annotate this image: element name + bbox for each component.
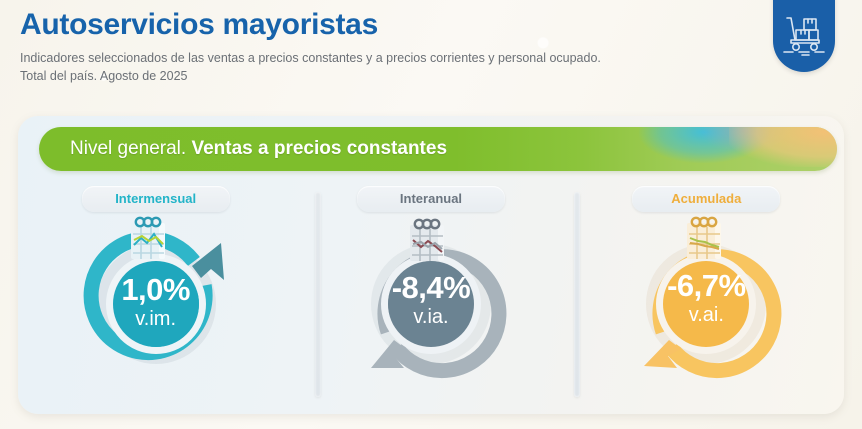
donut-acumulada: -6,7% v.ai.: [611, 216, 801, 384]
page-title: Autoservicios mayoristas: [20, 8, 740, 43]
banner-peach-accent: [729, 127, 837, 167]
donut-interanual: -8,4% v.ia.: [336, 216, 526, 384]
calendar-chart-icon: [402, 216, 454, 268]
banner-title-prefix: Nivel general.: [70, 138, 186, 159]
page-header: Autoservicios mayoristas Indicadores sel…: [20, 8, 740, 85]
warehouse-cart-icon: [782, 10, 826, 56]
banner-title: Nivel general. Ventas a precios constant…: [70, 138, 447, 160]
banner-violet-accent: [699, 127, 789, 153]
indicator-panel-interanual[interactable]: Interanual -8,4% v.ia.: [293, 178, 568, 410]
section-banner: Nivel general. Ventas a precios constant…: [39, 127, 837, 171]
calendar-chart-icon: [679, 214, 731, 266]
indicator-label-intermensual: Intermensual: [82, 186, 230, 212]
indicator-panel-intermensual[interactable]: Intermensual 1,0%: [18, 178, 293, 410]
banner-cyan-accent: [639, 127, 769, 163]
page-subtitle: Indicadores seleccionados de las ventas …: [20, 49, 740, 85]
subtitle-line-2: Total del país. Agosto de 2025: [20, 67, 740, 85]
calendar-chart-icon: [123, 214, 175, 266]
indicator-panels: Intermensual 1,0%: [18, 178, 844, 410]
indicator-panel-acumulada[interactable]: Acumulada -6,7% v.ai.: [569, 178, 844, 410]
indicator-label-acumulada: Acumulada: [632, 186, 780, 212]
banner-title-emphasis: Ventas a precios constantes: [191, 138, 447, 159]
subtitle-line-1: Indicadores seleccionados de las ventas …: [20, 49, 740, 67]
warehouse-cart-badge: [773, 0, 835, 72]
donut-intermensual: 1,0% v.im.: [61, 216, 251, 384]
indicators-card: Nivel general. Ventas a precios constant…: [18, 116, 844, 414]
indicator-label-interanual: Interanual: [357, 186, 505, 212]
